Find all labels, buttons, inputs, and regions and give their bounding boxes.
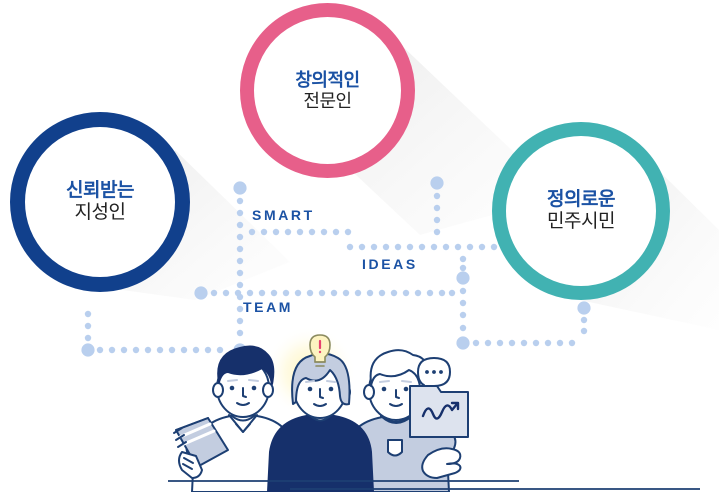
path-node: [81, 343, 94, 356]
circle-trust-line2: 지성인: [75, 202, 126, 224]
circle-trust[interactable]: 신뢰받는 지성인: [10, 112, 190, 292]
keyword-team: TEAM: [243, 299, 293, 315]
circle-creative-line1: 창의적인: [295, 70, 359, 91]
circle-creative-line2: 전문인: [303, 91, 351, 112]
keyword-ideas: IDEAS: [362, 256, 418, 272]
circle-citizen-line1: 정의로운: [547, 189, 615, 211]
infographic-canvas: 신뢰받는 지성인 창의적인 전문인 정의로운 민주시민 SMART IDEAS …: [0, 0, 719, 492]
path-node: [456, 336, 469, 349]
path-node: [577, 301, 590, 314]
path-node: [194, 286, 207, 299]
circle-creative[interactable]: 창의적인 전문인: [240, 3, 415, 178]
circle-citizen-line2: 민주시민: [547, 211, 615, 233]
circle-citizen[interactable]: 정의로운 민주시민: [492, 122, 670, 300]
keyword-smart: SMART: [252, 207, 315, 223]
circle-trust-line1: 신뢰받는: [66, 180, 134, 202]
chart-folder-icon: [410, 386, 468, 437]
path-node: [430, 176, 443, 189]
people-illustration: [174, 335, 468, 492]
path-node: [233, 181, 246, 194]
path-node: [456, 271, 469, 284]
